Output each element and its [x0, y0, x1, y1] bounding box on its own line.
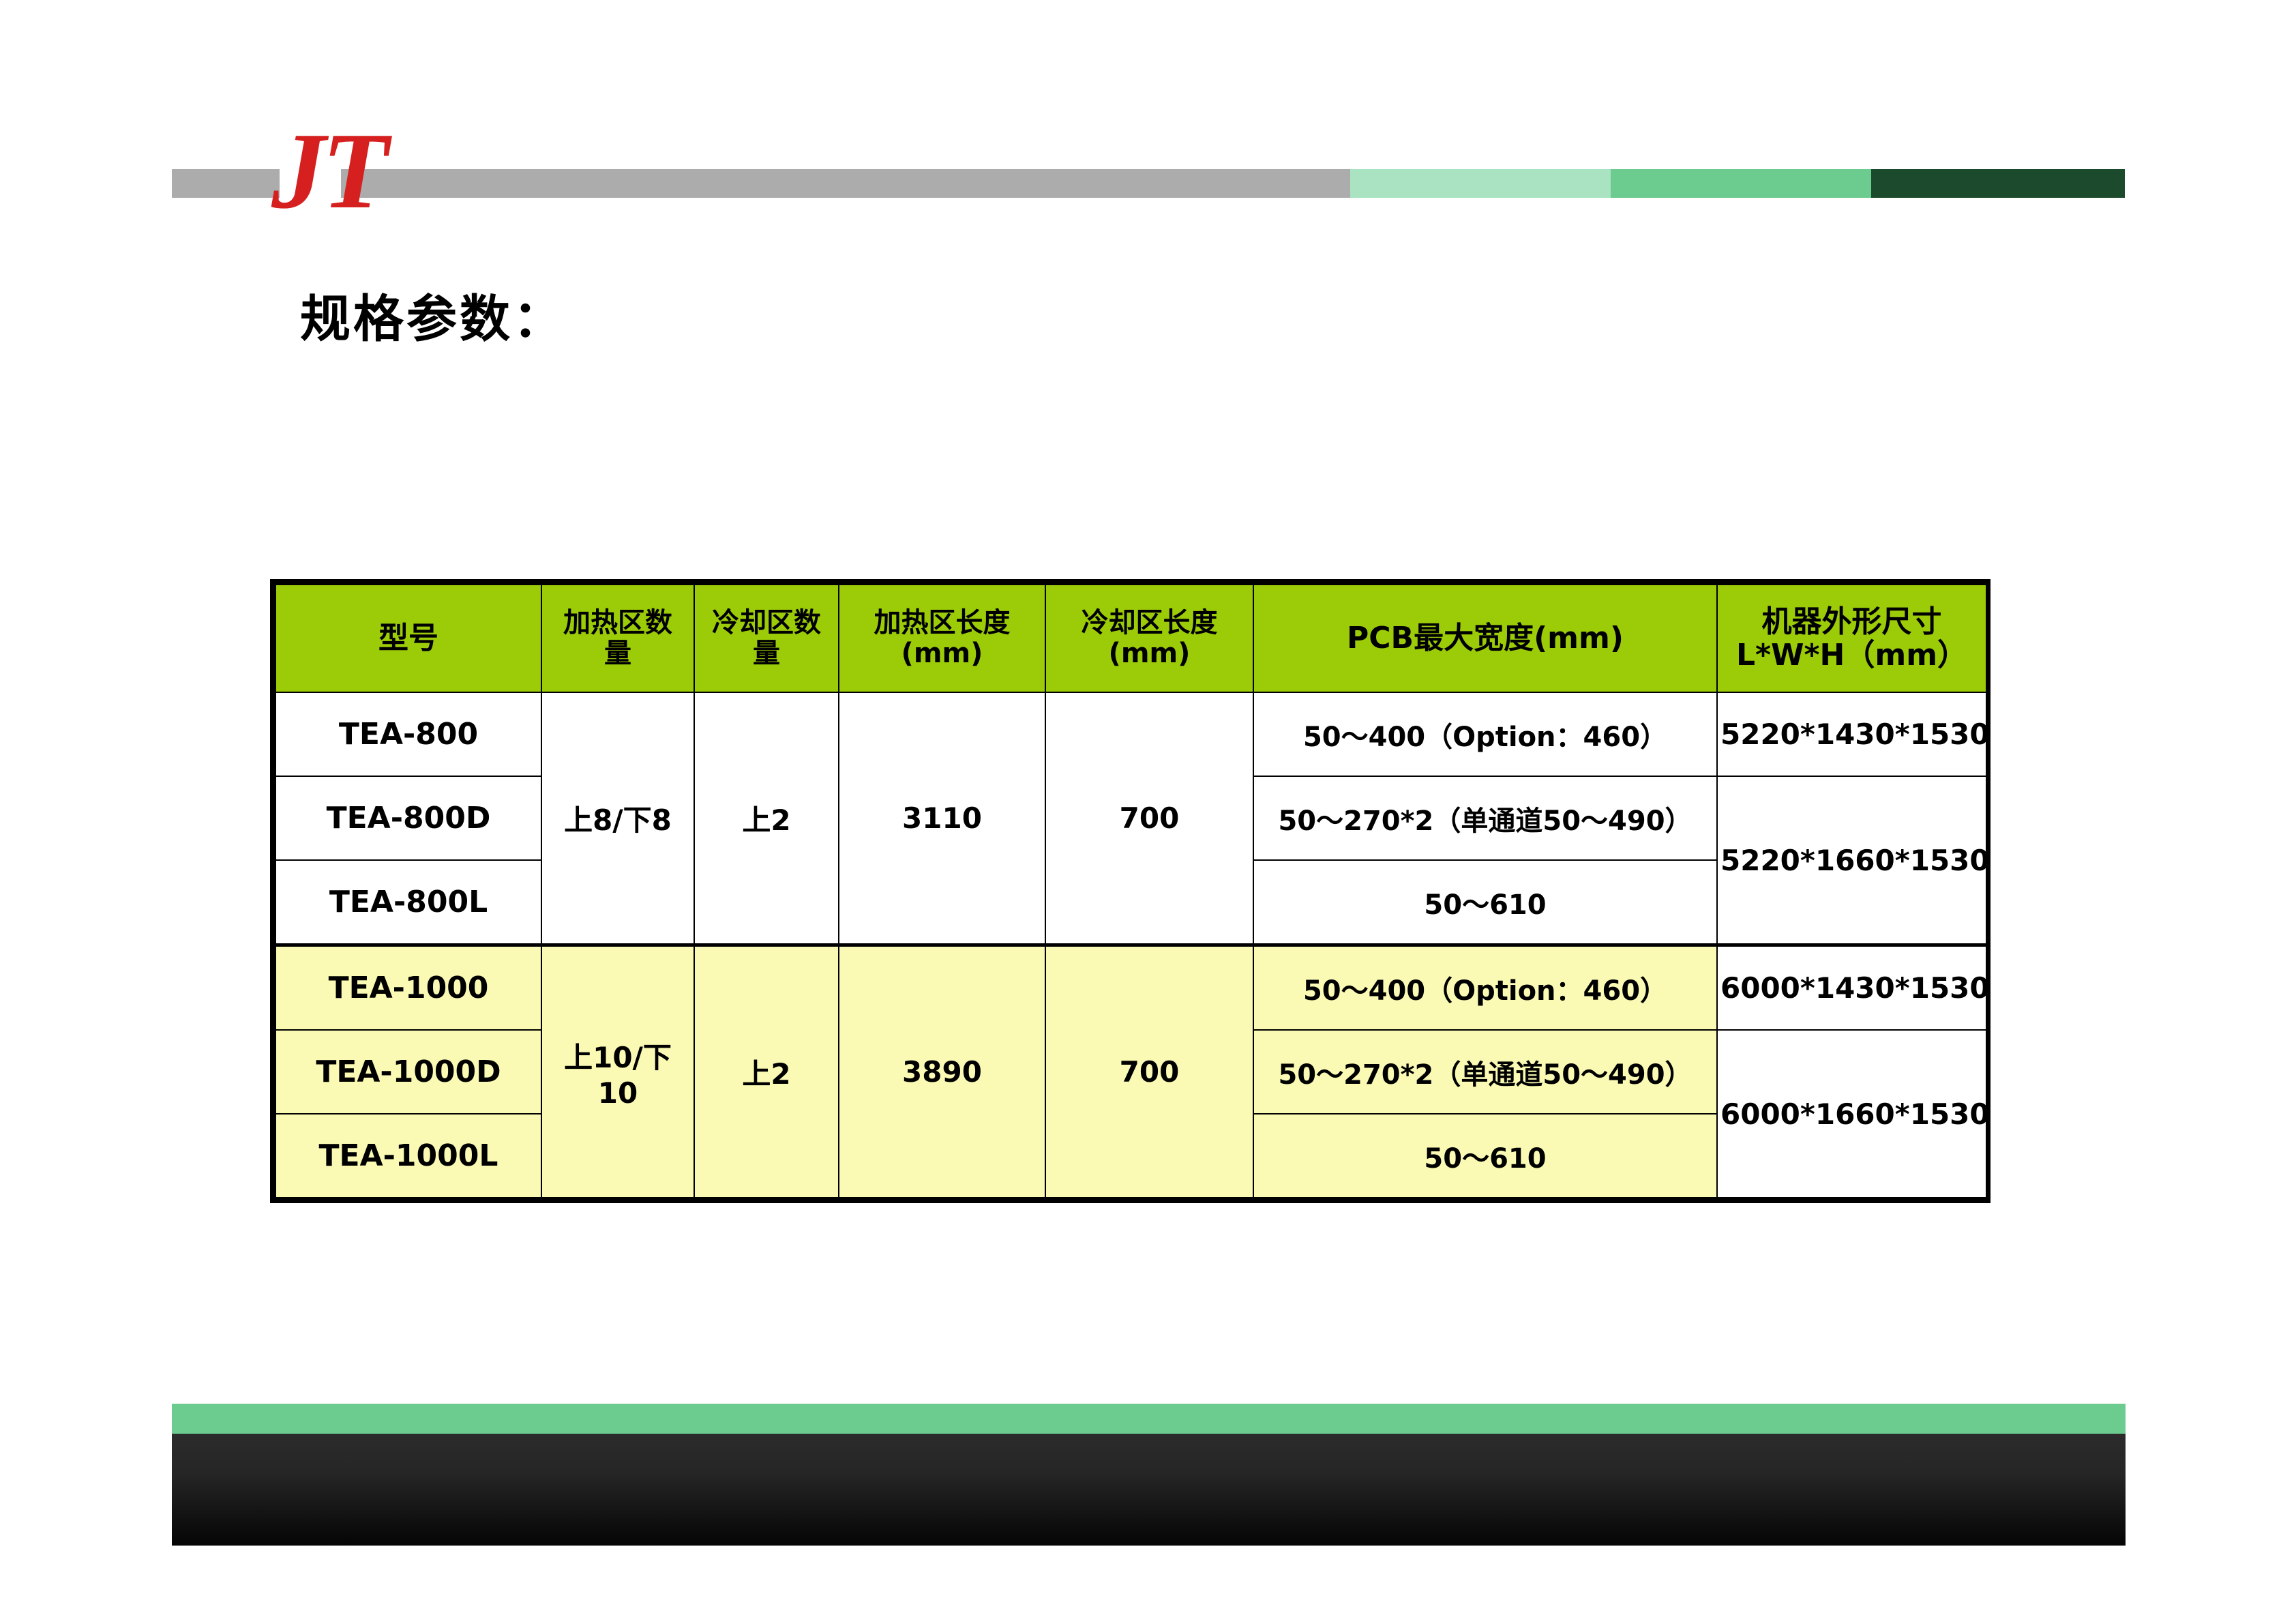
cell-machine-dimension: 6000*1430*1530 — [1717, 945, 1986, 1031]
cell-heating-length: 3890 — [839, 945, 1045, 1198]
specification-table: 型号 加热区数 量 冷却区数 量 加热区长度 (mm) 冷却区长度 (mm) P — [275, 584, 1987, 1198]
column-header-cooling-length-line1: 冷却区长度 — [1082, 607, 1218, 638]
table-header-row: 型号 加热区数 量 冷却区数 量 加热区长度 (mm) 冷却区长度 (mm) P — [275, 585, 1986, 692]
cell-pcb-width: 50～610 — [1253, 1114, 1717, 1198]
cell-pcb-width: 50～400（Option：460） — [1253, 945, 1717, 1031]
spec-table-container: 型号 加热区数 量 冷却区数 量 加热区长度 (mm) 冷却区长度 (mm) P — [270, 579, 1991, 1203]
table-row: TEA-800 上8/下8 上2 3110 700 50～400（Option：… — [275, 692, 1986, 776]
cell-cooling-zones: 上2 — [694, 945, 839, 1198]
cell-machine-dimension: 5220*1660*1530 — [1717, 776, 1986, 945]
column-header-model: 型号 — [275, 585, 541, 692]
cell-heating-zones: 上8/下8 — [541, 692, 694, 945]
column-header-cooling-length: 冷却区长度 (mm) — [1045, 585, 1253, 692]
cell-pcb-width: 50～610 — [1253, 860, 1717, 945]
header-bar-segment-green-dark — [1871, 169, 2125, 198]
cell-cooling-length: 700 — [1045, 945, 1253, 1198]
page-title: 规格参数： — [300, 278, 566, 351]
cell-pcb-width: 50～270*2（单通道50～490） — [1253, 1030, 1717, 1114]
column-header-heating-length-line1: 加热区长度 — [874, 607, 1011, 638]
column-header-heating-zones-line1: 加热区数 — [563, 607, 672, 638]
cell-heating-zones: 上10/下10 — [541, 945, 694, 1198]
column-header-machine-dimension-line1: 机器外形尺寸 — [1762, 604, 1942, 639]
header-bar-segment-green-medium — [1611, 169, 1871, 198]
cell-model: TEA-800L — [275, 860, 541, 945]
cell-model: TEA-800D — [275, 776, 541, 860]
column-header-cooling-zones-line2: 量 — [753, 638, 780, 669]
cell-model: TEA-800 — [275, 692, 541, 776]
column-header-pcb-width: PCB最大宽度(mm) — [1253, 585, 1717, 692]
column-header-machine-dimension: 机器外形尺寸 L*W*H（mm） — [1717, 585, 1986, 692]
column-header-heating-length: 加热区长度 (mm) — [839, 585, 1045, 692]
column-header-heating-length-line2: (mm) — [901, 638, 983, 669]
footer-green-bar — [172, 1404, 2126, 1434]
header-bar-segment-gray-left — [172, 169, 280, 198]
cell-model: TEA-1000L — [275, 1114, 541, 1198]
cell-pcb-width: 50～270*2（单通道50～490） — [1253, 776, 1717, 860]
cell-machine-dimension: 6000*1660*1530 — [1717, 1030, 1986, 1198]
column-header-cooling-zones: 冷却区数 量 — [694, 585, 839, 692]
cell-cooling-zones: 上2 — [694, 692, 839, 945]
header-bar-segment-green-light — [1350, 169, 1611, 198]
column-header-heating-zones-line2: 量 — [604, 638, 631, 669]
cell-model: TEA-1000 — [275, 945, 541, 1031]
column-header-machine-dimension-line2: L*W*H（mm） — [1736, 638, 1967, 673]
footer-dark-bar — [172, 1434, 2126, 1546]
cell-model: TEA-1000D — [275, 1030, 541, 1114]
cell-heating-length: 3110 — [839, 692, 1045, 945]
cell-pcb-width: 50～400（Option：460） — [1253, 692, 1717, 776]
column-header-cooling-zones-line1: 冷却区数 — [712, 607, 821, 638]
column-header-heating-zones: 加热区数 量 — [541, 585, 694, 692]
company-logo: JT — [271, 123, 428, 218]
column-header-cooling-length-line2: (mm) — [1109, 638, 1191, 669]
cell-cooling-length: 700 — [1045, 692, 1253, 945]
header-bar-segment-gray-main — [341, 169, 1350, 198]
cell-machine-dimension: 5220*1430*1530 — [1717, 692, 1986, 776]
table-row: TEA-1000 上10/下10 上2 3890 700 50～400（Opti… — [275, 945, 1986, 1031]
